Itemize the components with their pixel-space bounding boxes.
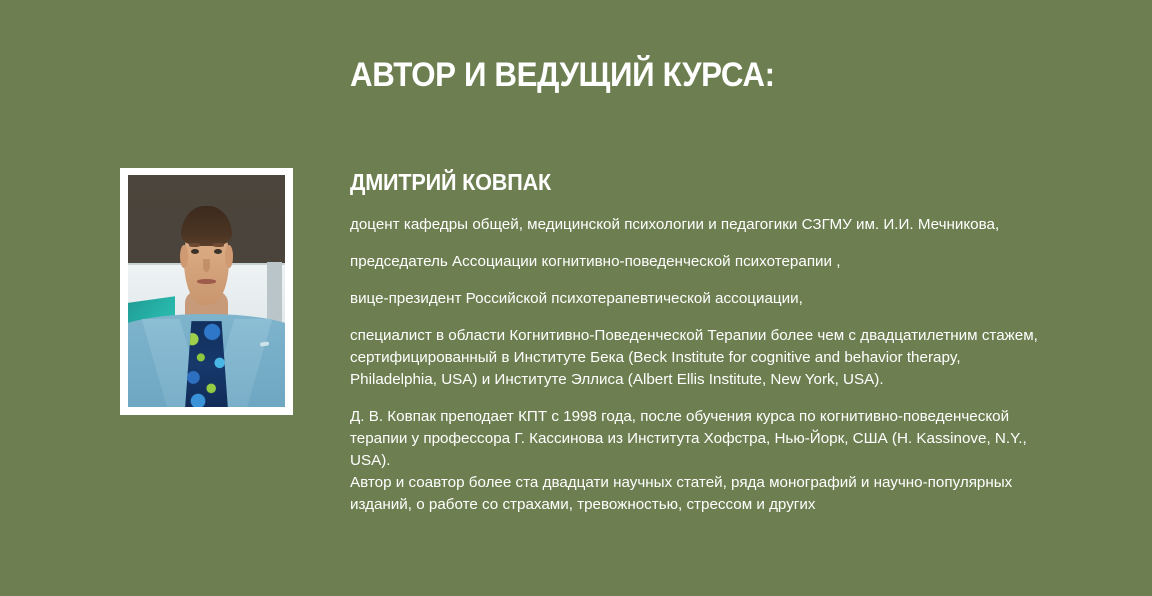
portrait-brow-right xyxy=(213,243,224,246)
slide-root: АВТОР И ВЕДУЩИЙ КУРСА: ДМИТРИЙ КОВПАК xyxy=(0,0,1152,596)
portrait-frame xyxy=(120,168,293,415)
portrait-photo xyxy=(128,175,285,407)
portrait-mouth xyxy=(197,279,216,283)
author-content: ДМИТРИЙ КОВПАК доцент кафедры общей, мед… xyxy=(350,168,1050,516)
author-bio: доцент кафедры общей, медицинской психол… xyxy=(350,214,1050,516)
bio-paragraph: доцент кафедры общей, медицинской психол… xyxy=(350,214,1050,236)
portrait-ear-left xyxy=(180,245,188,268)
bio-paragraph: председатель Ассоциации когнитивно-повед… xyxy=(350,251,1050,273)
page-title: АВТОР И ВЕДУЩИЙ КУРСА: xyxy=(350,55,775,95)
bio-paragraph: вице-президент Российской психотерапевти… xyxy=(350,288,1050,310)
bio-paragraph: Автор и соавтор более ста двадцати научн… xyxy=(350,472,1050,516)
portrait-brow-left xyxy=(189,243,200,246)
bio-paragraph: специалист в области Когнитивно-Поведенч… xyxy=(350,325,1050,391)
author-name: ДМИТРИЙ КОВПАК xyxy=(350,168,1008,196)
bio-paragraph: Д. В. Ковпак преподает КПТ с 1998 года, … xyxy=(350,406,1050,472)
